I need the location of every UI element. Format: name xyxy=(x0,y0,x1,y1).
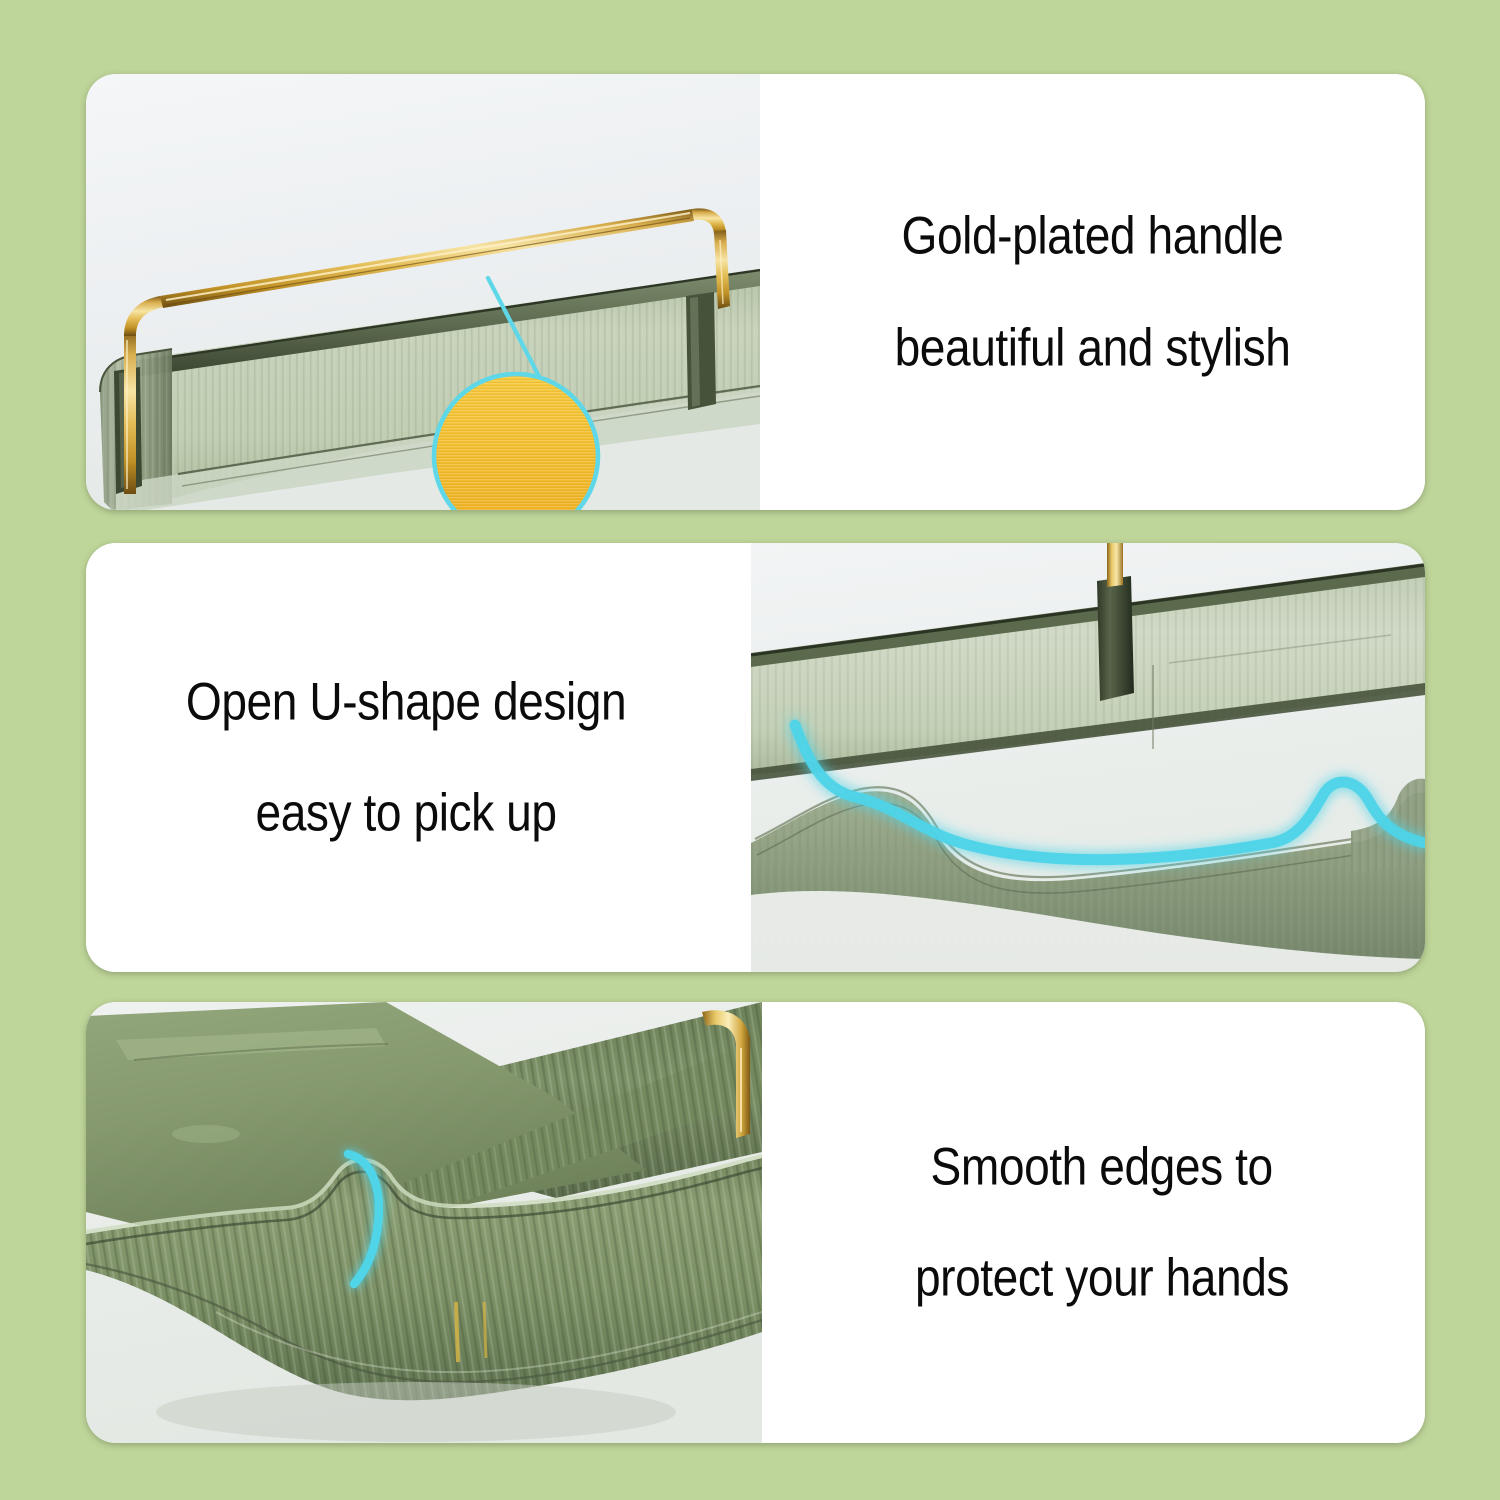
caption-line-2: beautiful and stylish xyxy=(895,320,1291,376)
caption-block: Smooth edges to protect your hands xyxy=(770,1139,1425,1306)
product-photo-smooth-edges xyxy=(86,1002,762,1443)
photo-canvas xyxy=(86,74,760,510)
feature-panel-u-shape: Open U-shape design easy to pick up xyxy=(86,543,1425,972)
caption-line-1: Gold-plated handle xyxy=(902,208,1284,264)
feature-panel-smooth-edges: Smooth edges to protect your hands xyxy=(86,1002,1425,1443)
caption-block: Open U-shape design easy to pick up xyxy=(86,674,739,841)
caption-area-smooth-edges: Smooth edges to protect your hands xyxy=(762,1002,1425,1443)
product-photo-u-shape xyxy=(751,543,1425,972)
product-photo-gold-handle xyxy=(86,74,760,510)
feature-panel-gold-handle: Gold-plated handle beautiful and stylish xyxy=(86,74,1425,510)
caption-area-gold-handle: Gold-plated handle beautiful and stylish xyxy=(760,74,1425,510)
caption-line-1: Smooth edges to xyxy=(930,1139,1272,1195)
caption-line-2: protect your hands xyxy=(914,1251,1288,1307)
photo-canvas xyxy=(751,543,1425,972)
caption-line-2: easy to pick up xyxy=(256,786,557,842)
caption-line-1: Open U-shape design xyxy=(186,674,626,730)
product-infographic: Gold-plated handle beautiful and stylish… xyxy=(0,0,1500,1500)
photo-canvas xyxy=(86,1002,762,1443)
caption-block: Gold-plated handle beautiful and stylish xyxy=(760,208,1425,375)
caption-area-u-shape: Open U-shape design easy to pick up xyxy=(86,543,751,972)
